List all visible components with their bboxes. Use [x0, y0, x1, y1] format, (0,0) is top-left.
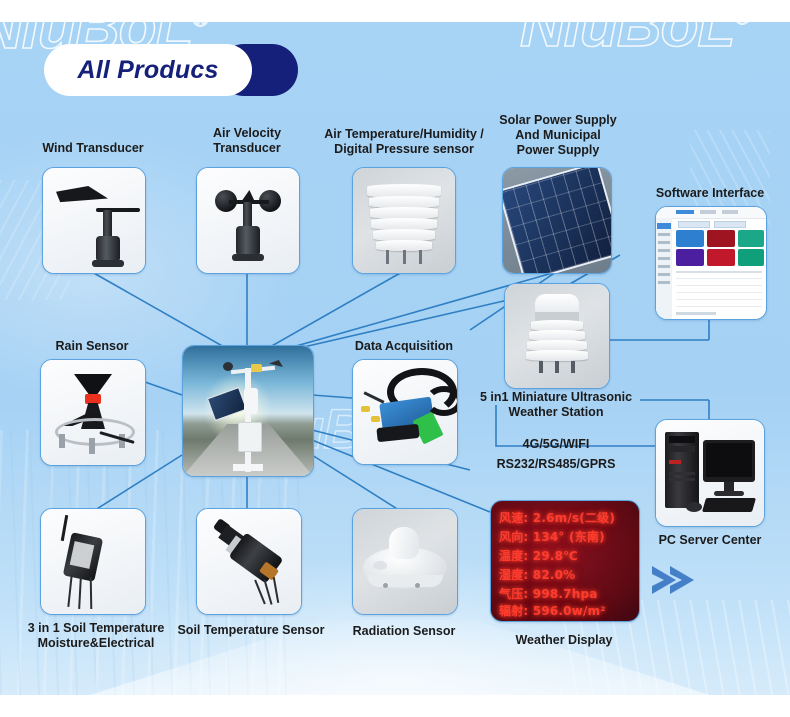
pc-mouse — [686, 502, 702, 512]
solar-power-card[interactable] — [502, 167, 612, 274]
dash-sidebar-item-active[interactable] — [657, 223, 671, 229]
weather-display-label: Weather Display — [494, 633, 634, 648]
dash-tile-air-temperature[interactable] — [676, 230, 704, 247]
rain-gauge-leg-1 — [59, 434, 65, 448]
soil-3in1-label-text: 3 in 1 Soil Temperature Moisture&Electri… — [12, 621, 180, 651]
data-acquisition-card[interactable] — [352, 359, 458, 465]
weather-display-card[interactable]: 风速: 2.6m/s(二级) 风向: 134° (东南) 温度: 29.8℃ 湿… — [490, 500, 640, 622]
led-line-pressure: 气压: 998.7hpa — [499, 585, 598, 602]
dash-tile-radiation[interactable] — [707, 249, 735, 266]
solar-panel-icon — [502, 167, 612, 274]
dash-tile-air-humidity[interactable] — [707, 230, 735, 247]
chevron-decoration-icon — [650, 560, 710, 600]
dash-filter-2[interactable] — [714, 221, 746, 228]
desktop-computer-icon — [665, 432, 699, 508]
dash-tab-2[interactable] — [700, 210, 716, 214]
ultrasonic-pin-1 — [539, 361, 543, 373]
dash-sidebar-item-4[interactable] — [658, 257, 670, 260]
air-temp-humidity-label: Air Temperature/Humidity / Digital Press… — [311, 127, 497, 157]
software-interface-label: Software Interface — [640, 186, 780, 201]
air-temp-humidity-card[interactable] — [352, 167, 456, 274]
pc-monitor-stand — [714, 491, 744, 496]
ultrasonic-station-card[interactable] — [504, 283, 610, 389]
dash-sidebar-item-3[interactable] — [658, 249, 670, 252]
page-title-pill: All Producs — [44, 44, 298, 96]
title-pill-body: All Producs — [44, 44, 252, 96]
daq-cable-loop — [425, 386, 458, 416]
daq-connector-2 — [371, 416, 380, 422]
dash-tab-active[interactable] — [676, 210, 694, 214]
radiation-sensor-label: Radiation Sensor — [340, 624, 468, 639]
anemometer-foot — [232, 254, 264, 261]
dash-table-header — [676, 271, 762, 273]
wired-connection-label: RS232/RS485/GPRS — [471, 457, 641, 472]
pc-tower-slot-1 — [669, 472, 695, 475]
dash-filter-1[interactable] — [678, 221, 710, 228]
dash-table-row-4 — [676, 299, 762, 300]
page-title: All Producs — [77, 56, 218, 85]
dash-tab-3[interactable] — [722, 210, 738, 214]
hub-solar-lamp — [251, 364, 262, 372]
pyranometer-base-ring — [367, 575, 443, 587]
soil-3in1-card[interactable] — [40, 508, 146, 615]
shield-pin-2 — [403, 250, 406, 264]
pyranometer-bubble-level — [373, 561, 387, 570]
rain-sensor-label: Rain Sensor — [34, 339, 150, 354]
wind-transducer-label: Wind Transducer — [18, 141, 168, 156]
led-line-wind-direction: 风向: 134° (东南) — [499, 528, 605, 545]
dash-sidebar-item-7[interactable] — [658, 281, 670, 284]
ultrasonic-station-label: 5 in1 Miniature Ultrasonic Weather Stati… — [474, 390, 638, 420]
hub-base-plate — [233, 464, 263, 471]
led-line-temperature: 温度: 29.8℃ — [499, 547, 578, 564]
dash-table-row-3 — [676, 292, 762, 293]
shield-pin-3 — [419, 250, 422, 264]
hub-mast — [245, 368, 251, 472]
data-acquisition-label: Data Acquisition — [330, 339, 478, 354]
ultrasonic-pin-2 — [555, 361, 559, 373]
ultrasonic-station-icon — [535, 294, 579, 314]
dash-table-row-2 — [676, 285, 762, 286]
hub-shield — [244, 388, 258, 414]
pc-server-label: PC Server Center — [645, 533, 775, 548]
wireless-connection-label: 4G/5G/WIFI — [471, 437, 641, 452]
vane-base — [96, 236, 120, 262]
vane-foot — [92, 260, 124, 267]
led-line-wind-speed: 风速: 2.6m/s(二级) — [499, 509, 615, 526]
product-overview-diagram: NiuBoL® NiuBoL® NiuBoL — [0, 0, 790, 717]
shield-pin-1 — [386, 250, 389, 264]
dash-sidebar-item-6[interactable] — [658, 273, 670, 276]
wind-transducer-card[interactable] — [42, 167, 146, 274]
solar-power-label: Solar Power Supply And Municipal Power S… — [490, 113, 626, 158]
ultrasonic-plate-4 — [526, 350, 588, 361]
dash-sidebar-item-1[interactable] — [658, 233, 670, 236]
pyranometer-screw-1 — [383, 583, 388, 588]
dash-tile-wind-speed[interactable] — [738, 230, 764, 247]
soil-temperature-label: Soil Temperature Sensor — [176, 623, 326, 638]
hub-controller-box — [238, 422, 262, 452]
dash-table-row-1 — [676, 278, 762, 279]
led-line-humidity: 湿度: 82.0% — [499, 566, 575, 583]
dash-footer — [676, 312, 716, 315]
pc-server-card[interactable] — [655, 419, 765, 527]
software-interface-card[interactable] — [655, 206, 767, 320]
pyranometer-dome — [389, 527, 419, 559]
bottom-white-margin — [0, 695, 790, 717]
weather-station-hub-card[interactable] — [182, 345, 314, 477]
anemometer-base — [236, 226, 260, 256]
pc-monitor-screen — [706, 443, 752, 477]
dash-sidebar-item-2[interactable] — [658, 241, 670, 244]
air-velocity-label: Air Velocity Transducer — [182, 126, 312, 156]
radiation-sensor-card[interactable] — [352, 508, 458, 615]
pc-tower-bay-1 — [669, 436, 695, 443]
rain-sensor-card[interactable] — [40, 359, 146, 466]
rain-gauge-label-red — [85, 394, 101, 404]
dash-sidebar-item-5[interactable] — [658, 265, 670, 268]
dash-tile-soil[interactable] — [738, 249, 764, 266]
rain-gauge-leg-2 — [89, 438, 95, 454]
soil-temperature-card[interactable] — [196, 508, 302, 615]
air-velocity-card[interactable] — [196, 167, 300, 274]
dash-table-row-5 — [676, 306, 762, 307]
hub-anemometer — [223, 362, 233, 371]
daq-connector-1 — [361, 406, 370, 412]
dash-tile-rainfall[interactable] — [676, 249, 704, 266]
pc-tower-slot-2 — [669, 478, 695, 481]
pc-power-led — [669, 460, 681, 464]
led-line-radiation: 辐射: 596.0w/m² — [499, 602, 606, 619]
ultrasonic-pin-3 — [571, 361, 575, 373]
pyranometer-screw-2 — [415, 583, 420, 588]
pc-tower-bay-2 — [669, 446, 695, 452]
pc-keyboard — [702, 498, 756, 512]
